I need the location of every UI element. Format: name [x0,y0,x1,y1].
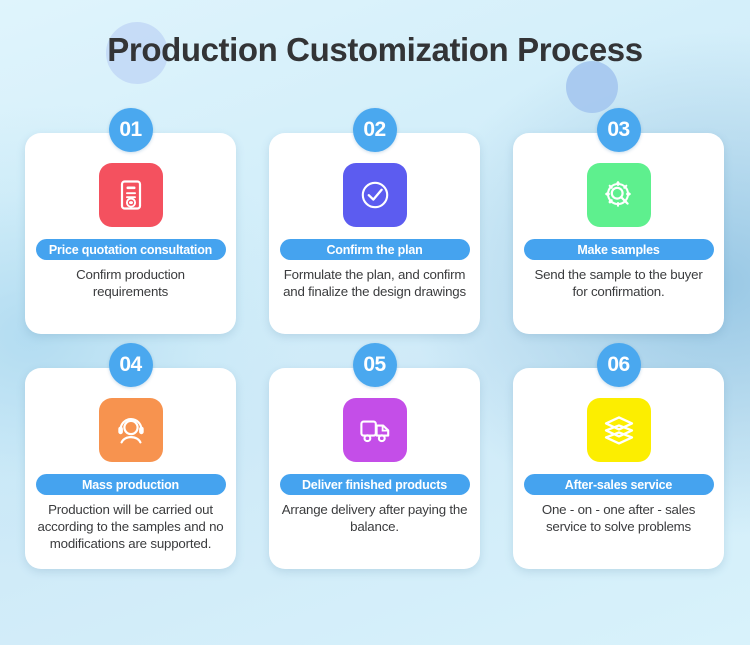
step-card-04[interactable]: 04 Mass production Production will be ca… [25,368,236,569]
step-number-badge: 01 [109,108,153,152]
step-number-badge: 04 [109,343,153,387]
step-card-05[interactable]: 05 Deliver finished products Arrange del… [269,368,480,569]
step-number-badge: 06 [597,343,641,387]
check-circle-icon [343,163,407,227]
step-label-pill: After-sales service [524,474,714,495]
step-label-pill: Deliver finished products [280,474,470,495]
step-number-badge: 05 [353,343,397,387]
infographic-root: Production Customization Process 01 Pric… [0,0,750,645]
headset-person-icon [99,398,163,462]
gear-magnifier-icon [587,163,651,227]
step-number-badge: 03 [597,108,641,152]
step-description: Send the sample to the buyer for confirm… [526,267,712,301]
step-card-06[interactable]: 06 After-sales service One - on - one af… [513,368,724,569]
page-title: Production Customization Process [0,31,750,69]
step-description: Arrange delivery after paying the balanc… [282,502,468,536]
step-label-pill: Confirm the plan [280,239,470,260]
step-number-badge: 02 [353,108,397,152]
delivery-truck-icon [343,398,407,462]
document-seal-icon [99,163,163,227]
step-card-01[interactable]: 01 Price quotation consultation Confirm … [25,133,236,334]
step-label-pill: Mass production [36,474,226,495]
step-card-02[interactable]: 02 Confirm the plan Formulate the plan, … [269,133,480,334]
step-description: Confirm production requirements [38,267,224,301]
steps-grid: 01 Price quotation consultation Confirm … [25,133,725,569]
step-description: Formulate the plan, and confirm and fina… [282,267,468,301]
step-description: Production will be carried out according… [38,502,224,552]
step-description: One - on - one after - sales service to … [526,502,712,536]
step-card-03[interactable]: 03 [513,133,724,334]
step-label-pill: Make samples [524,239,714,260]
step-label-pill: Price quotation consultation [36,239,226,260]
stacked-layers-icon [587,398,651,462]
